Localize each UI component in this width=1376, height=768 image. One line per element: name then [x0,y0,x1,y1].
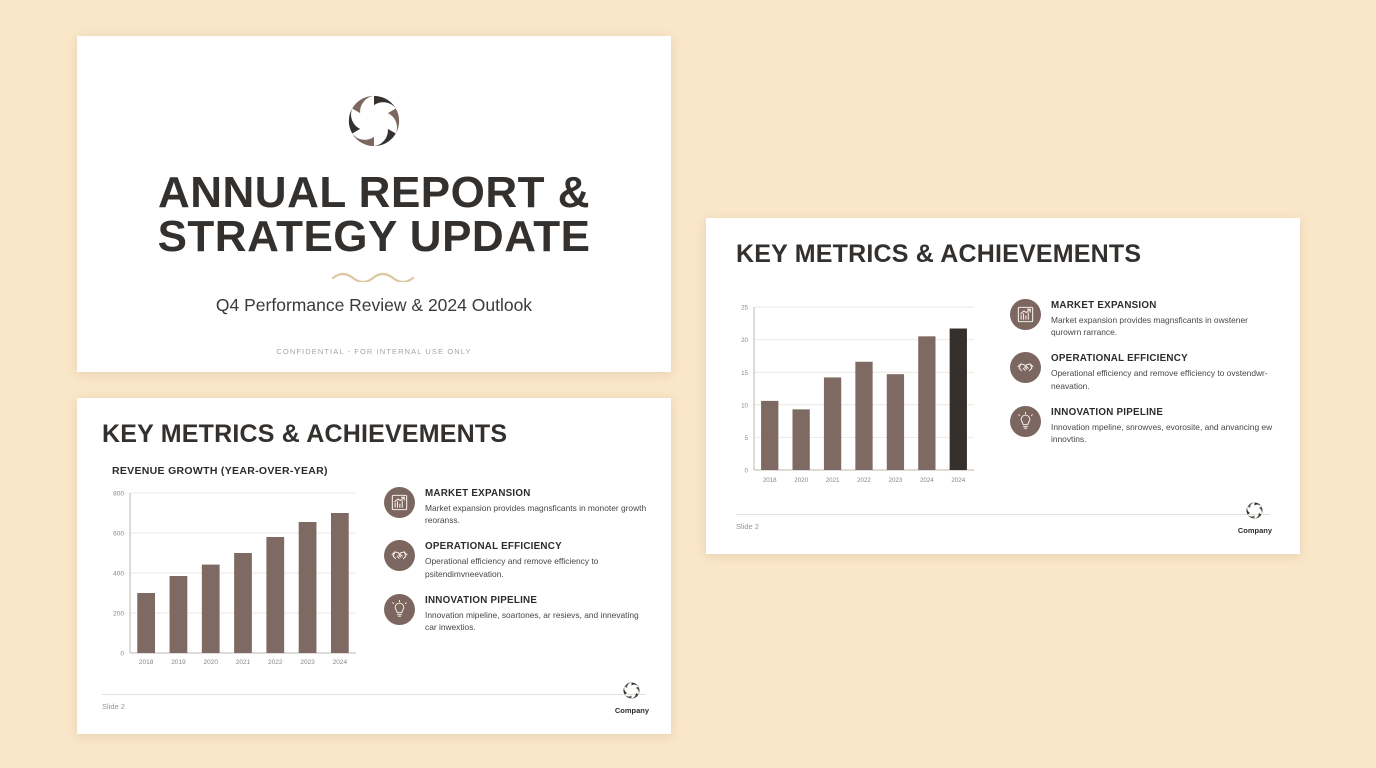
feature-innovation-pipeline[interactable]: INNOVATION PIPELINE Innovation mipeline,… [384,594,651,633]
brand-name: Company [615,706,649,715]
svg-text:2024: 2024 [951,477,965,484]
feature-operational-efficiency[interactable]: OPERATIONAL EFFICIENCY Operational effic… [1010,352,1278,391]
svg-text:0: 0 [745,468,749,475]
svg-text:25: 25 [741,305,748,312]
feature-list-2: MARKET EXPANSION Market expansion provid… [980,299,1278,445]
brand-name: Company [1238,526,1272,535]
svg-text:2020: 2020 [794,477,808,484]
feature-text: OPERATIONAL EFFICIENCY Operational effic… [1051,352,1278,391]
handshake-icon [1010,352,1041,383]
slide-heading: KEY METRICS & ACHIEVEMENTS [706,218,1300,269]
feature-text: MARKET EXPANSION Market expansion provid… [425,487,651,526]
spiral-logo-icon [341,88,407,159]
feature-title: MARKET EXPANSION [425,488,651,499]
svg-text:2023: 2023 [300,659,315,666]
feature-description: Operational efficiency and remove effici… [1051,367,1278,391]
feature-text: MARKET EXPANSION Market expansion provid… [1051,299,1278,338]
spiral-logo-icon [1244,508,1265,525]
key-metrics-chart[interactable]: 05101520252018202020212022202320242024 [728,299,980,494]
wavy-divider-icon [331,269,417,287]
feature-market-expansion[interactable]: MARKET EXPANSION Market expansion provid… [1010,299,1278,338]
revenue-growth-chart[interactable]: REVENUE GROWTH (YEAR-OVER-YEAR) 02004006… [100,465,362,675]
svg-text:2021: 2021 [826,477,840,484]
title-slide[interactable]: ANNUAL REPORT & STRATEGY UPDATE Q4 Perfo… [77,36,671,372]
svg-text:2021: 2021 [236,659,251,666]
svg-text:10: 10 [741,402,748,409]
page-title: ANNUAL REPORT & STRATEGY UPDATE [158,171,591,259]
feature-operational-efficiency[interactable]: OPERATIONAL EFFICIENCY Operational effic… [384,540,651,579]
slide-heading: KEY METRICS & ACHIEVEMENTS [77,398,671,449]
title-line-2: STRATEGY UPDATE [158,212,591,261]
handshake-icon [384,540,415,571]
footer-divider [102,694,646,695]
feature-description: Market expansion provides magnsficants i… [1051,314,1278,338]
metrics-slide-2[interactable]: KEY METRICS & ACHIEVEMENTS 0510152025201… [706,218,1300,554]
bar-chart-growth-icon [1010,299,1041,330]
svg-text:0: 0 [120,651,124,658]
footer-divider [736,514,1270,515]
chart-canvas: 05101520252018202020212022202320242024 [728,299,980,494]
slide-footer: Slide 2 [706,508,1300,554]
lightbulb-icon [1010,406,1041,437]
svg-text:2022: 2022 [268,659,283,666]
slide-footer: Slide 2 [77,688,671,734]
slide-number: Slide 2 [102,702,125,711]
svg-text:400: 400 [113,571,124,578]
feature-market-expansion[interactable]: MARKET EXPANSION Market expansion provid… [384,487,651,526]
chart-canvas: 0200400600800201820192020202120222023202… [100,485,362,675]
feature-description: Market expansion provides magnsficants i… [425,502,651,526]
feature-title: INNOVATION PIPELINE [425,595,651,606]
feature-innovation-pipeline[interactable]: INNOVATION PIPELINE Innovation mpeline, … [1010,406,1278,445]
slide-number: Slide 2 [736,522,759,531]
feature-description: Operational efficiency and remove effici… [425,555,651,579]
feature-list-1: MARKET EXPANSION Market expansion provid… [362,465,651,633]
svg-text:20: 20 [741,337,748,344]
svg-text:15: 15 [741,370,748,377]
slide-content: 05101520252018202020212022202320242024 [706,269,1300,494]
svg-text:2020: 2020 [203,659,218,666]
svg-text:2018: 2018 [139,659,154,666]
lightbulb-icon [384,594,415,625]
svg-text:2019: 2019 [171,659,186,666]
footer-brand: Company [615,680,649,715]
slide-content: REVENUE GROWTH (YEAR-OVER-YEAR) 02004006… [77,449,671,675]
title-subtitle: Q4 Performance Review & 2024 Outlook [216,295,532,316]
feature-text: INNOVATION PIPELINE Innovation mpeline, … [1051,406,1278,445]
bar-chart-growth-icon [384,487,415,518]
feature-text: OPERATIONAL EFFICIENCY Operational effic… [425,540,651,579]
confidential-notice: CONFIDENTIAL - FOR INTERNAL USE ONLY [77,347,671,356]
svg-text:800: 800 [113,491,124,498]
svg-text:2018: 2018 [763,477,777,484]
feature-title: INNOVATION PIPELINE [1051,407,1278,418]
feature-title: MARKET EXPANSION [1051,300,1278,311]
feature-title: OPERATIONAL EFFICIENCY [1051,353,1278,364]
svg-text:5: 5 [745,435,749,442]
svg-text:2022: 2022 [857,477,871,484]
footer-brand: Company [1238,500,1272,535]
feature-title: OPERATIONAL EFFICIENCY [425,541,651,552]
feature-text: INNOVATION PIPELINE Innovation mipeline,… [425,594,651,633]
svg-text:2024: 2024 [920,477,934,484]
metrics-slide-1[interactable]: KEY METRICS & ACHIEVEMENTS REVENUE GROWT… [77,398,671,734]
chart-title: REVENUE GROWTH (YEAR-OVER-YEAR) [112,465,362,477]
svg-text:2023: 2023 [889,477,903,484]
svg-text:200: 200 [113,611,124,618]
title-line-1: ANNUAL REPORT & [158,168,590,217]
spiral-logo-icon [621,688,642,705]
svg-text:2024: 2024 [333,659,348,666]
feature-description: Innovation mpeline, snrowves, evorosite,… [1051,421,1278,445]
feature-description: Innovation mipeline, soartones, ar resie… [425,609,651,633]
svg-text:600: 600 [113,531,124,538]
